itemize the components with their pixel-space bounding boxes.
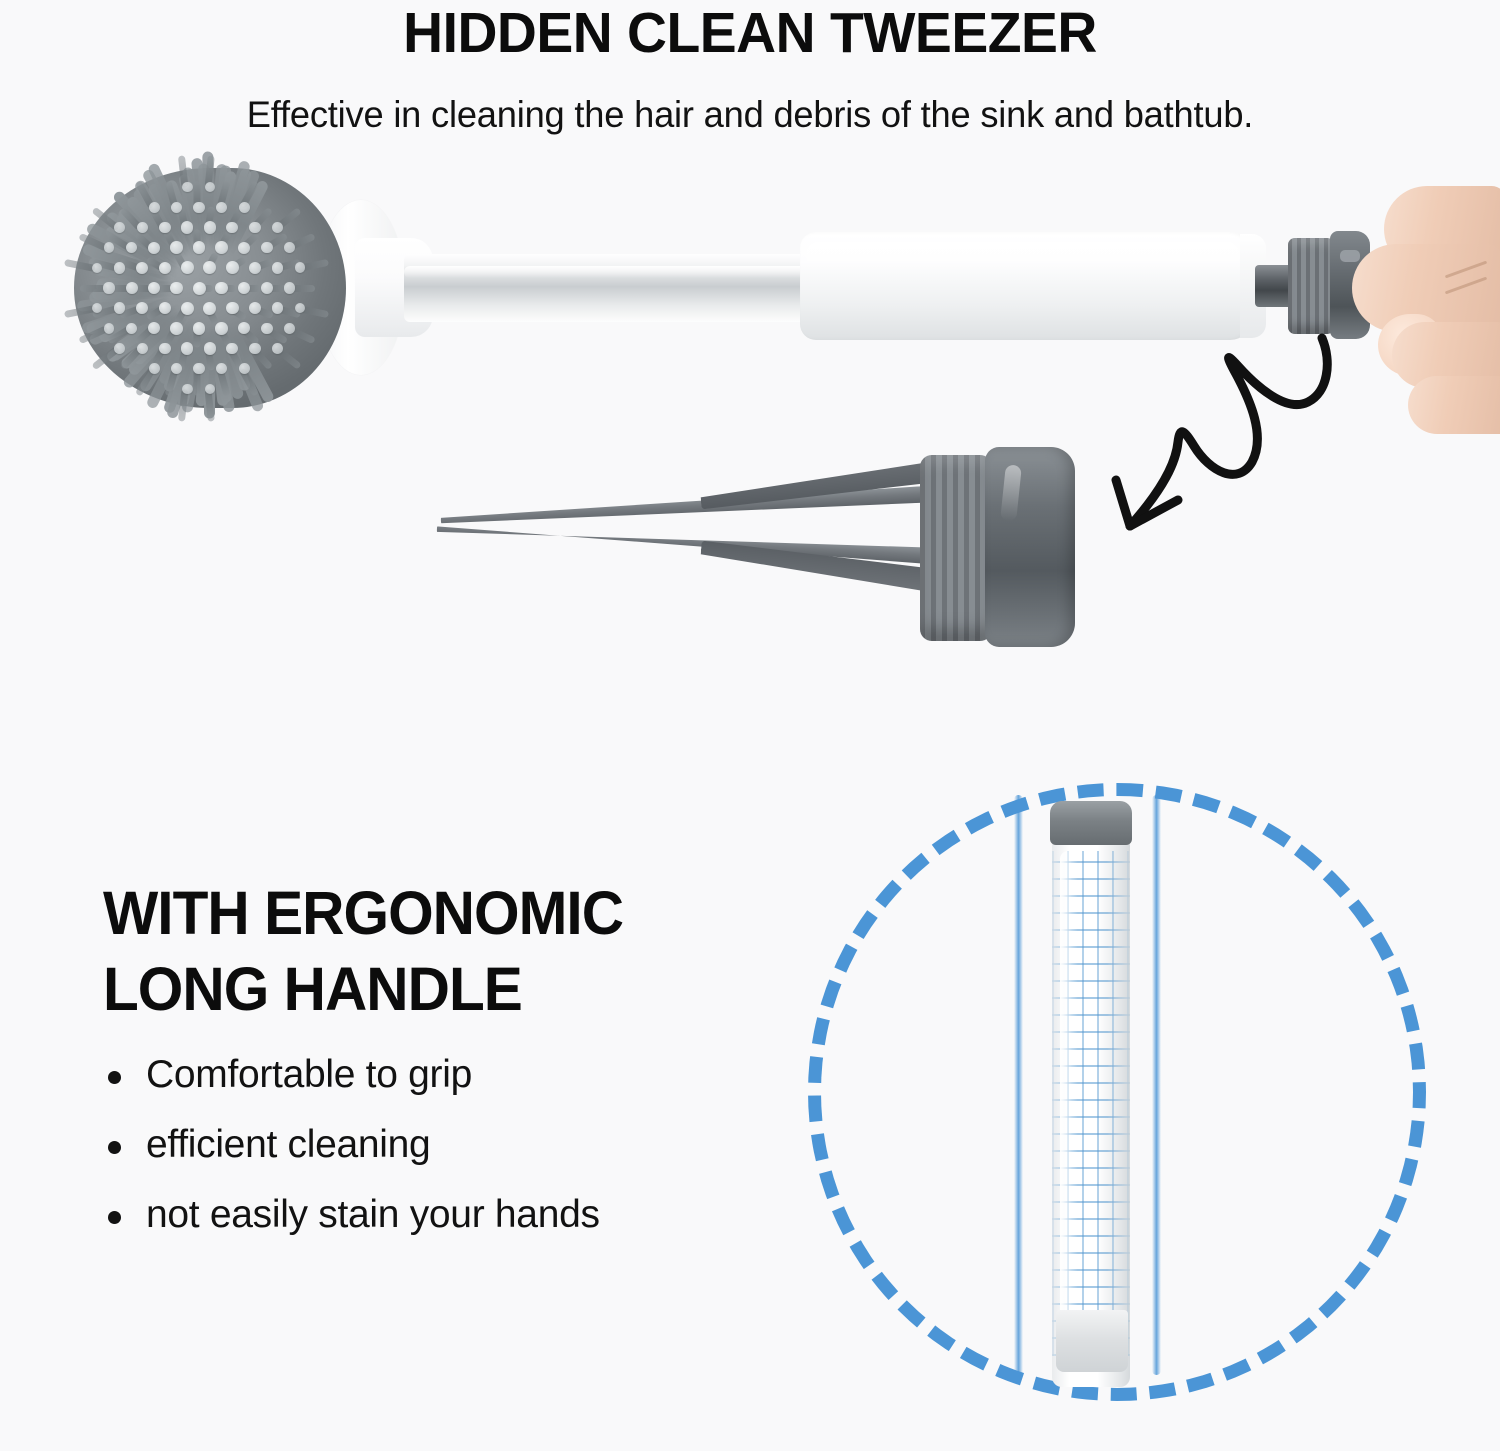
section-title-line2: LONG HANDLE <box>103 952 833 1028</box>
handle-closeup-inset <box>800 775 1410 1405</box>
feature-bullet-list: Comfortable to grip efficient cleaning n… <box>100 1055 800 1265</box>
squiggly-arrow-icon <box>1060 330 1380 560</box>
handle-body <box>1052 807 1130 1387</box>
tweezer-threaded-collar <box>920 455 992 641</box>
list-item: efficient cleaning <box>100 1125 800 1164</box>
handle-top-cap <box>1050 801 1132 845</box>
handle-highlight <box>1060 851 1078 1356</box>
handle-glow-left <box>1014 795 1023 1375</box>
handle-glow-right <box>1152 795 1161 1375</box>
section-title-line1: WITH ERGONOMIC <box>103 879 623 947</box>
handle-bottom-ferrule <box>1056 1310 1128 1372</box>
product-infographic: HIDDEN CLEAN TWEEZER Effective in cleani… <box>0 0 1500 1451</box>
list-item: Comfortable to grip <box>100 1055 800 1094</box>
tweezer-prong-top <box>440 485 940 529</box>
section-title: WITH ERGONOMIC LONG HANDLE <box>103 876 833 1027</box>
list-item: not easily stain your hands <box>100 1195 800 1234</box>
tweezer-prong-bottom <box>436 521 942 565</box>
